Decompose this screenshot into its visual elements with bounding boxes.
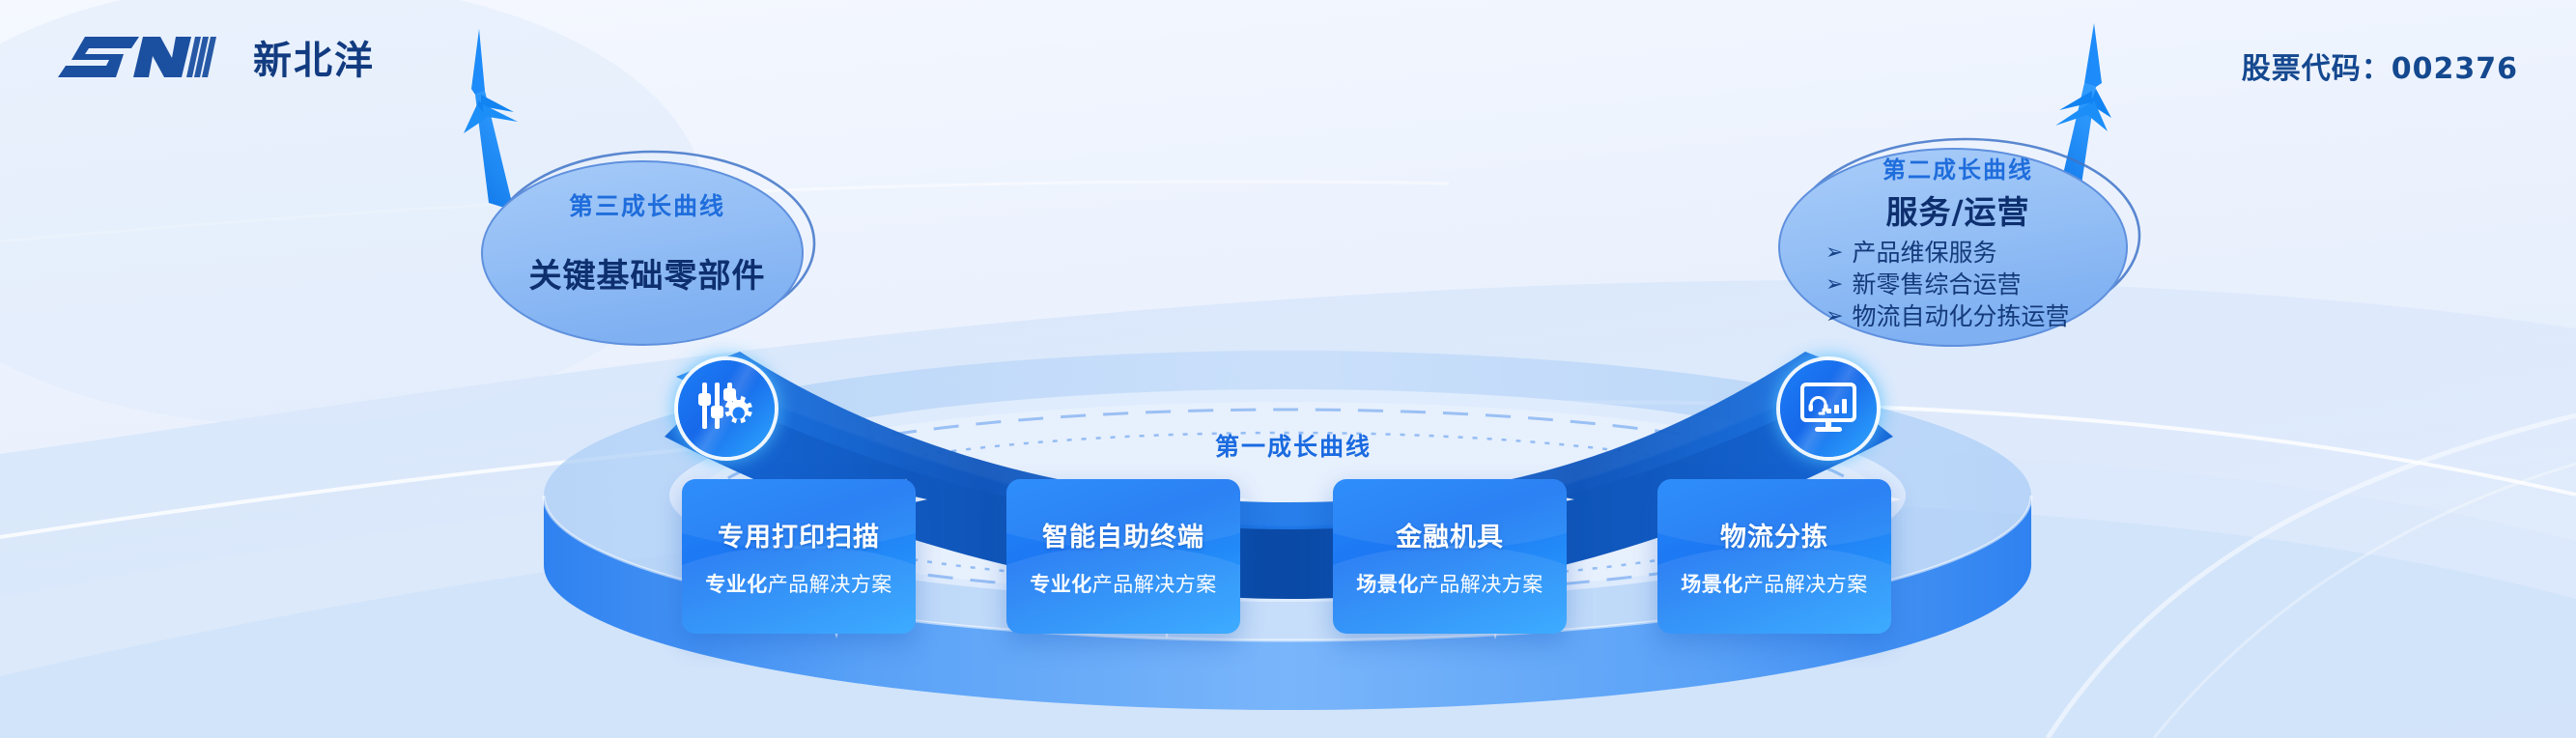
- card-subtitle-rest: 产品解决方案: [1092, 573, 1217, 596]
- third-curve-title: 关键基础零部件: [529, 249, 766, 297]
- second-growth-curve-bubble[interactable]: 第二成长曲线 服务/运营 ➢ 产品维保服务 ➢ 新零售综合运营 ➢ 物流自动化分…: [1769, 135, 2146, 355]
- card-subtitle-emphasis: 场景化: [1356, 573, 1419, 596]
- card-title: 金融机具: [1396, 516, 1504, 553]
- monitor-headset-chart-icon: [1798, 382, 1858, 436]
- card-subtitle-rest: 产品解决方案: [1419, 573, 1543, 596]
- list-item: ➢ 新零售综合运营: [1826, 269, 2146, 300]
- bullet-arrow-icon: ➢: [1826, 306, 1843, 327]
- snbc-logo-icon: [56, 31, 240, 83]
- card-subtitle-rest: 产品解决方案: [1743, 573, 1868, 596]
- product-card-4[interactable]: 物流分拣 场景化产品解决方案: [1657, 479, 1891, 634]
- page-header: 新北洋 股票代码：002376: [0, 0, 2576, 116]
- third-growth-curve-bubble[interactable]: 第三成长曲线 关键基础零部件: [473, 147, 821, 352]
- card-subtitle: 场景化产品解决方案: [1681, 569, 1868, 598]
- monitor-headset-chart-icon-badge[interactable]: [1780, 360, 1877, 457]
- list-item-label: 新零售综合运营: [1852, 269, 2021, 300]
- list-item: ➢ 产品维保服务: [1826, 237, 2146, 269]
- sliders-gear-icon: [696, 379, 756, 439]
- card-title: 物流分拣: [1720, 516, 1828, 553]
- bullet-arrow-icon: ➢: [1826, 242, 1843, 264]
- brand-logo[interactable]: 新北洋: [56, 29, 375, 85]
- card-subtitle-emphasis: 专业化: [1030, 573, 1092, 596]
- second-curve-subtitle: 第二成长曲线: [1882, 151, 2033, 184]
- first-curve-label: 第一成长曲线: [1215, 428, 1372, 463]
- brand-logo-cn: 新北洋: [253, 29, 375, 85]
- card-subtitle: 场景化产品解决方案: [1356, 569, 1543, 598]
- card-subtitle-rest: 产品解决方案: [768, 573, 892, 596]
- card-subtitle-emphasis: 场景化: [1681, 573, 1743, 596]
- second-curve-text: 第二成长曲线 服务/运营 ➢ 产品维保服务 ➢ 新零售综合运营 ➢ 物流自动化分…: [1769, 135, 2146, 355]
- sliders-gear-icon-badge[interactable]: [678, 360, 775, 457]
- product-card-3[interactable]: 金融机具 场景化产品解决方案: [1333, 479, 1567, 634]
- card-subtitle: 专业化产品解决方案: [705, 569, 892, 598]
- card-title: 专用打印扫描: [718, 516, 880, 553]
- third-curve-subtitle: 第三成长曲线: [569, 187, 725, 222]
- product-card-1[interactable]: 专用打印扫描 专业化产品解决方案: [682, 479, 916, 634]
- second-curve-title: 服务/运营: [1885, 186, 2029, 233]
- bullet-arrow-icon: ➢: [1826, 274, 1843, 296]
- list-item-label: 物流自动化分拣运营: [1852, 300, 2069, 332]
- stock-code-label: 股票代码：002376: [2242, 44, 2518, 87]
- second-curve-bullet-list: ➢ 产品维保服务 ➢ 新零售综合运营 ➢ 物流自动化分拣运营: [1769, 237, 2146, 332]
- infographic-stage: 新北洋 股票代码：002376: [0, 0, 2576, 738]
- card-subtitle-emphasis: 专业化: [705, 573, 768, 596]
- third-curve-text: 第三成长曲线 关键基础零部件: [473, 147, 821, 352]
- list-item-label: 产品维保服务: [1852, 237, 1996, 269]
- list-item: ➢ 物流自动化分拣运营: [1826, 300, 2146, 332]
- product-card-2[interactable]: 智能自助终端 专业化产品解决方案: [1006, 479, 1240, 634]
- card-subtitle: 专业化产品解决方案: [1030, 569, 1217, 598]
- card-title: 智能自助终端: [1042, 516, 1204, 553]
